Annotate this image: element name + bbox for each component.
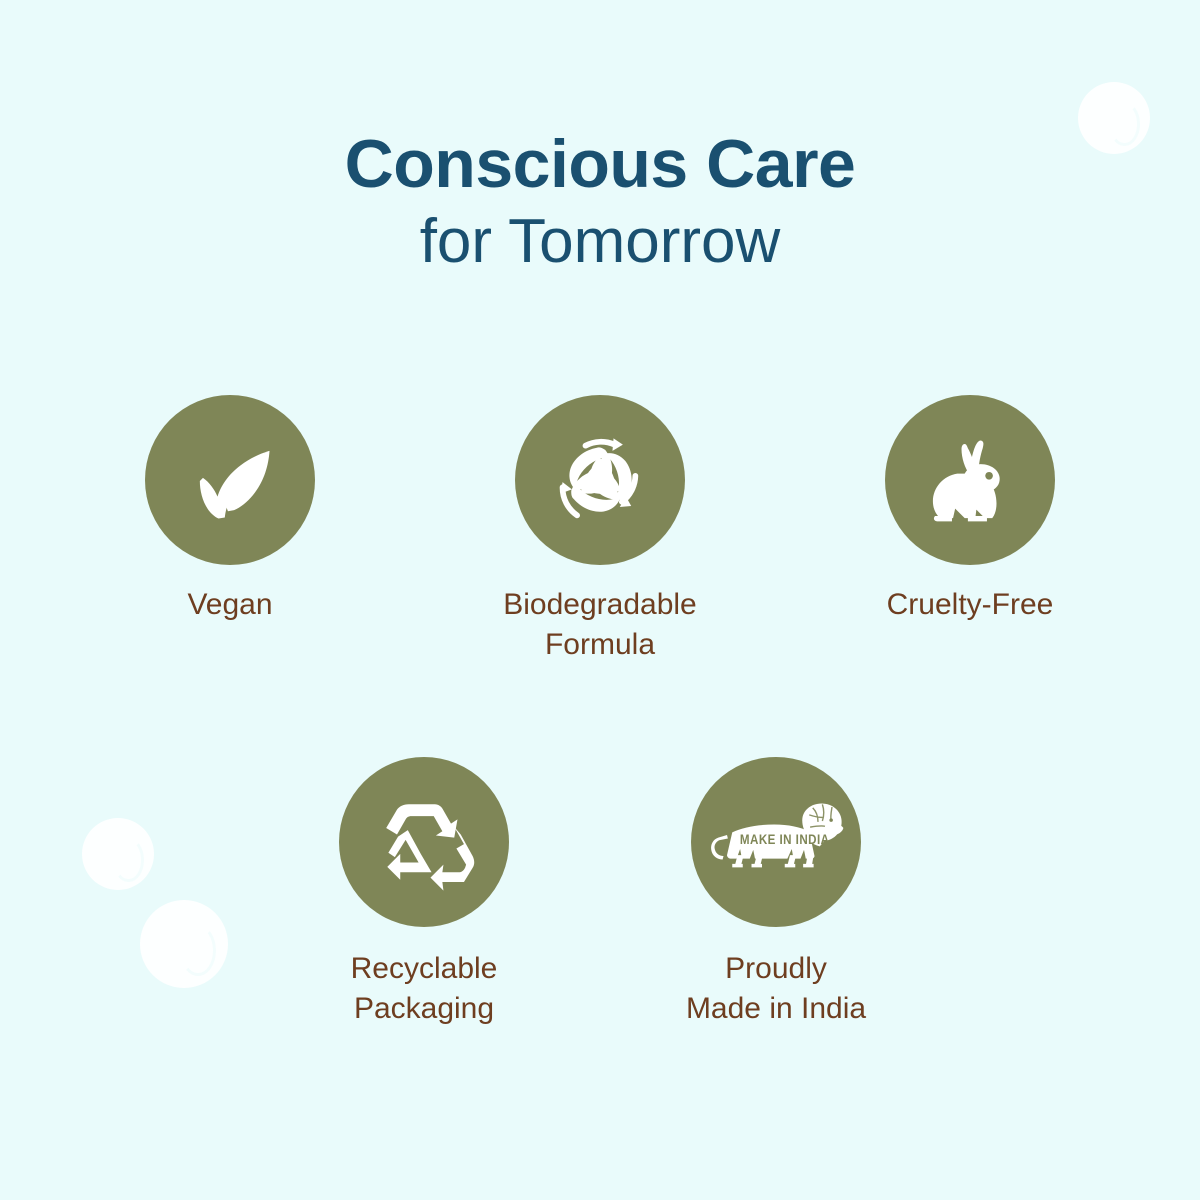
badge-biodegradable-circle (515, 395, 685, 565)
badge-made-in-india-label: Proudly Made in India (646, 949, 906, 1029)
badge-vegan-circle (145, 395, 315, 565)
badge-cruelty-free-label: Cruelty-Free (840, 585, 1100, 625)
badge-cruelty-free[interactable]: Cruelty-Free (875, 395, 1065, 665)
make-in-india-lion-icon: MAKE IN INDIA (706, 802, 846, 882)
badge-made-in-india-circle: MAKE IN INDIA (691, 757, 861, 927)
page-title: Conscious Care for Tomorrow (0, 128, 1200, 281)
badge-cruelty-free-circle (885, 395, 1055, 565)
badge-biodegradable-label: Biodegradable Formula (470, 585, 730, 665)
badge-row-top: Vegan (0, 395, 1200, 665)
badge-recyclable[interactable]: Recyclable Packaging (329, 757, 519, 1029)
badge-made-in-india[interactable]: MAKE IN INDIA Proudly Made in India (681, 757, 871, 1029)
poster-canvas: Conscious Care for Tomorrow Vegan (0, 0, 1200, 1200)
badge-recyclable-circle (339, 757, 509, 927)
badge-vegan-label: Vegan (100, 585, 360, 625)
badge-recyclable-label: Recyclable Packaging (294, 949, 554, 1029)
page-title-line-2: for Tomorrow (0, 203, 1200, 281)
badge-vegan[interactable]: Vegan (135, 395, 325, 665)
badge-biodegradable[interactable]: Biodegradable Formula (505, 395, 695, 665)
biodegradable-leaves-icon (548, 428, 652, 532)
page-title-line-1: Conscious Care (0, 128, 1200, 201)
badge-row-bottom: Recyclable Packaging (0, 757, 1200, 1029)
recycle-icon (370, 788, 478, 896)
leaf-check-icon (178, 428, 282, 532)
make-in-india-text: MAKE IN INDIA (740, 831, 830, 847)
rabbit-icon (917, 427, 1023, 533)
